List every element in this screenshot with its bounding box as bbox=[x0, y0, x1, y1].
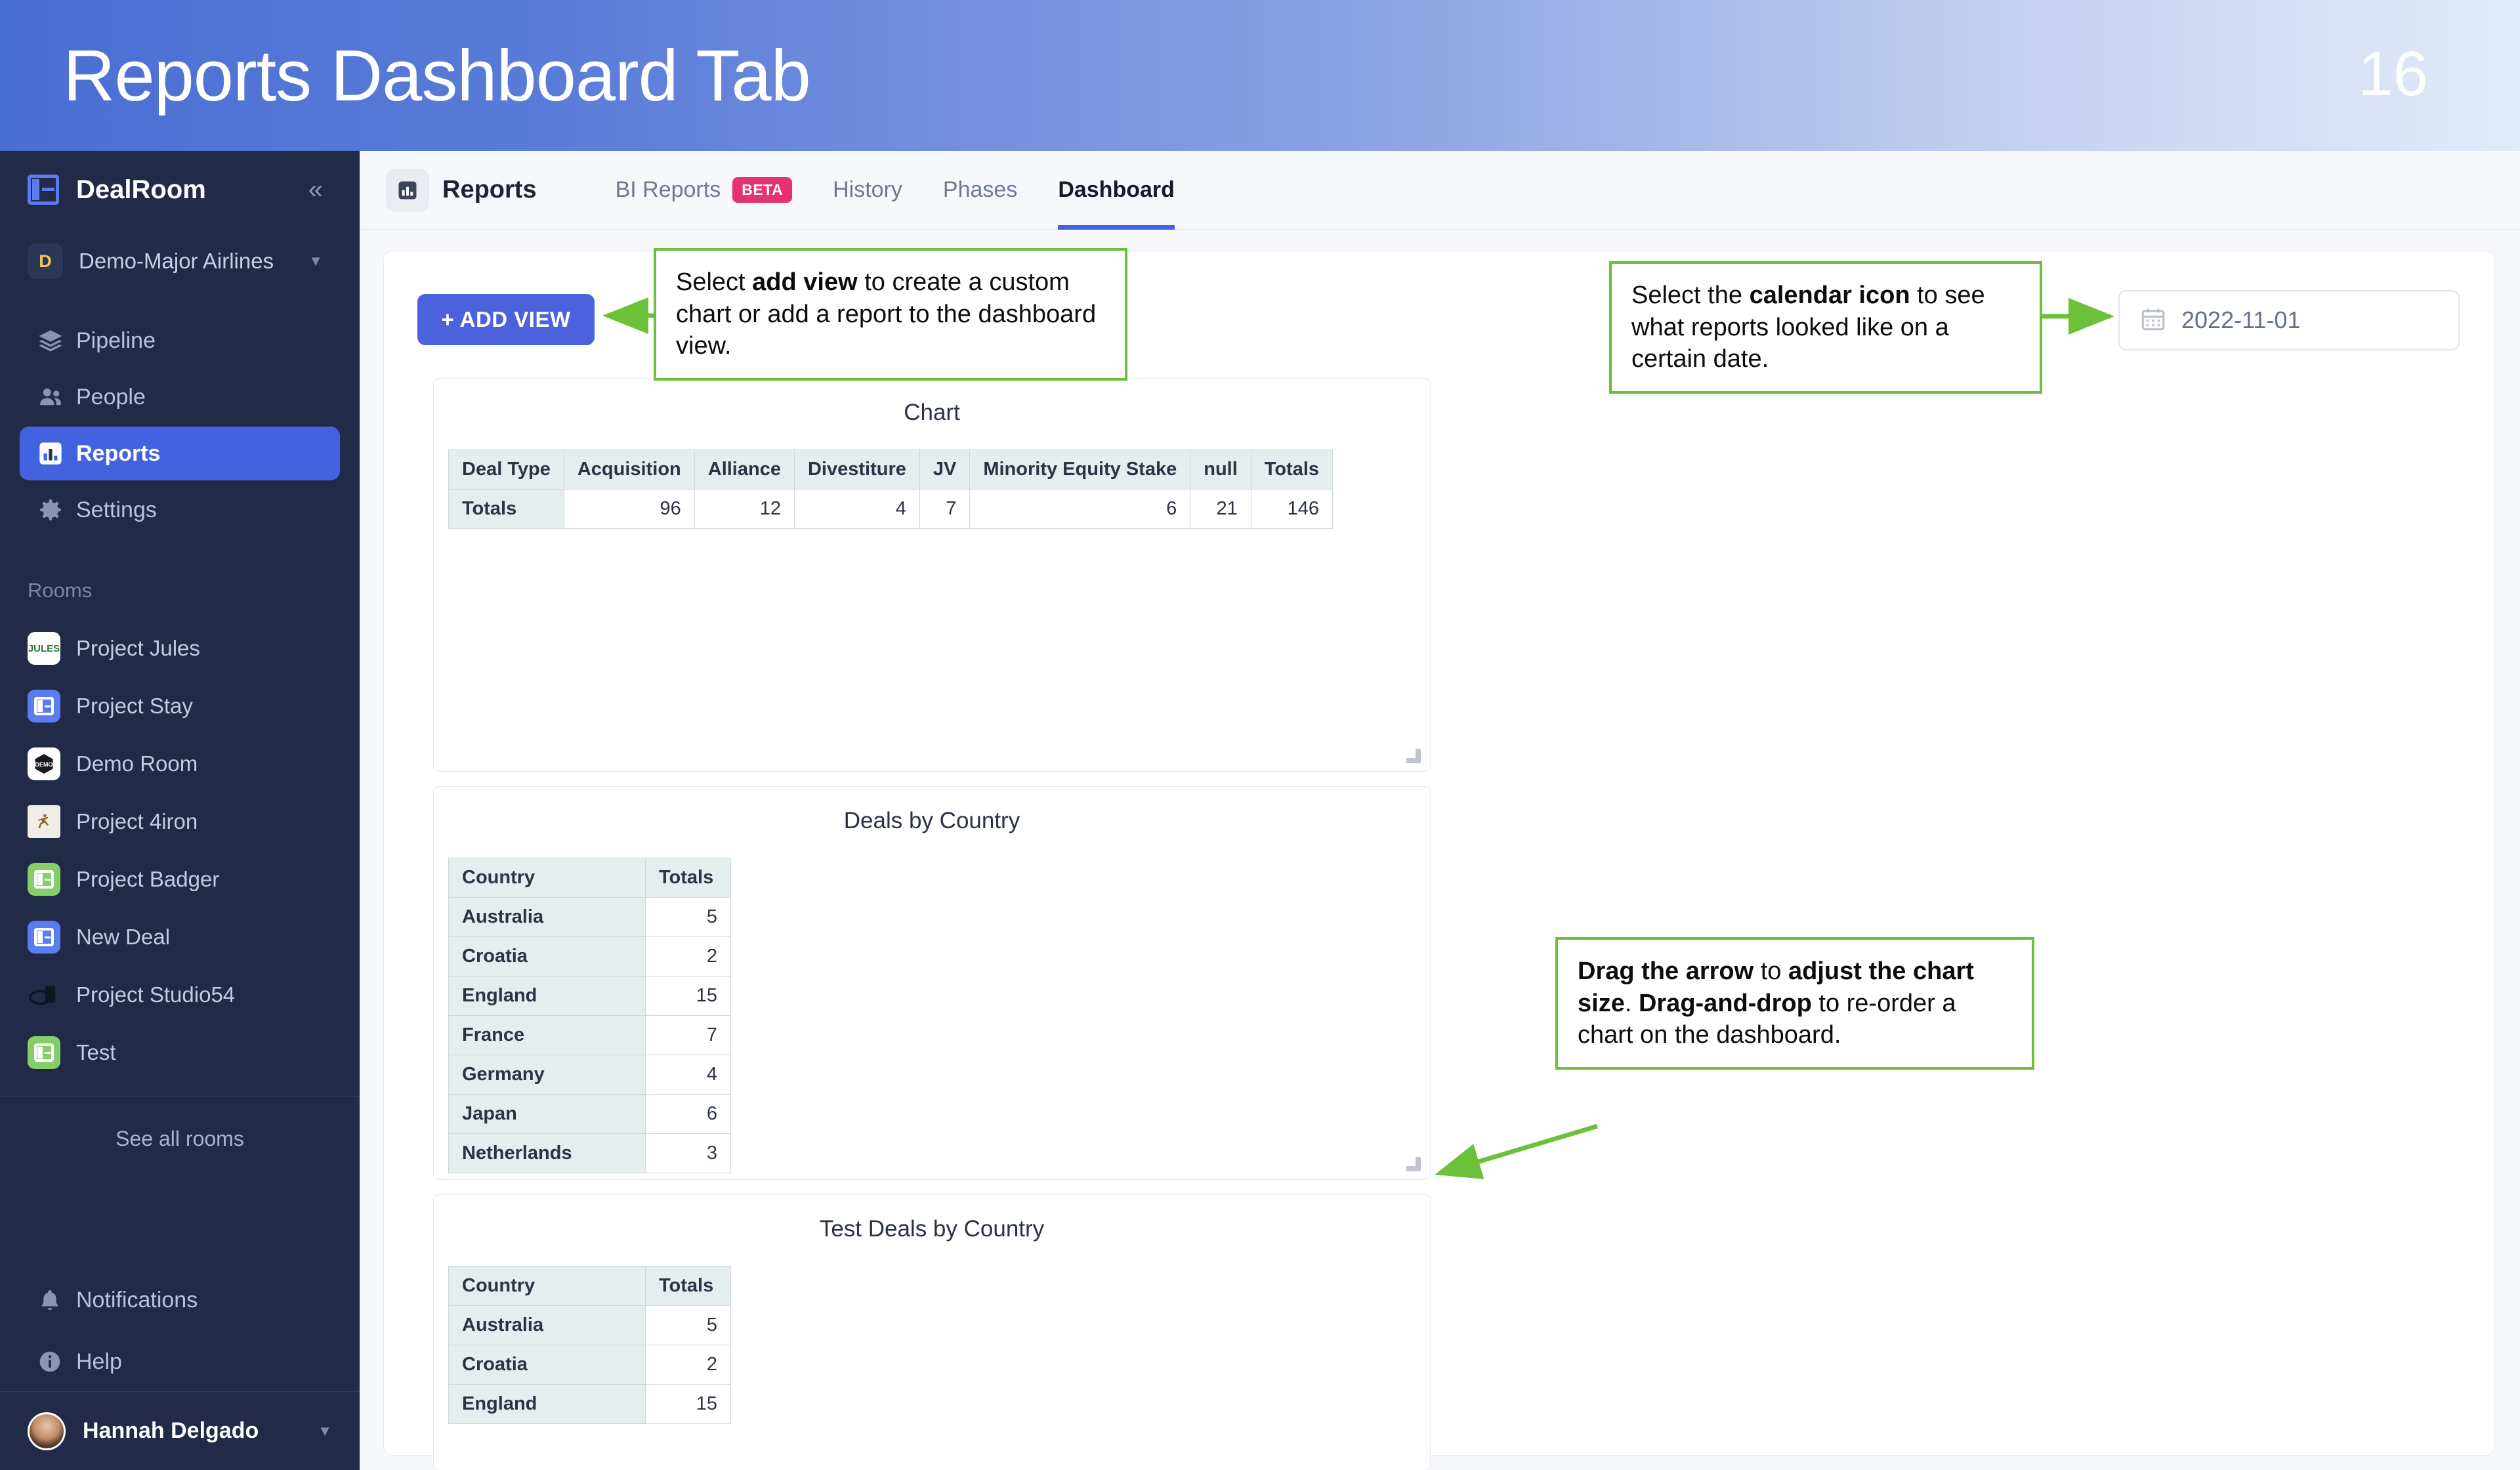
tab-bar: Reports BI Reports BETA History Phases D… bbox=[360, 151, 2520, 230]
room-item-project-stay[interactable]: Project Stay bbox=[0, 677, 360, 735]
table-header-row: Country Totals bbox=[449, 858, 731, 898]
table-row: Australia5 bbox=[449, 898, 731, 937]
cell: Australia bbox=[449, 898, 646, 937]
cell: 4 bbox=[646, 1055, 731, 1095]
cell: Australia bbox=[449, 1306, 646, 1345]
svg-text:DEMO: DEMO bbox=[35, 761, 53, 768]
room-label: Test bbox=[76, 1040, 116, 1065]
rooms-section-title: Rooms bbox=[0, 579, 360, 602]
table-header-row: Deal Type Acquisition Alliance Divestitu… bbox=[449, 450, 1333, 490]
room-item-project-badger[interactable]: Project Badger bbox=[0, 850, 360, 908]
room-item-project-4iron[interactable]: Project 4iron bbox=[0, 793, 360, 850]
tab-history[interactable]: History bbox=[833, 151, 902, 230]
bell-icon bbox=[37, 1287, 68, 1313]
room-label: Project 4iron bbox=[76, 809, 198, 834]
cell: Japan bbox=[449, 1095, 646, 1134]
table-row: Totals 96 12 4 7 6 21 146 bbox=[449, 490, 1333, 529]
sidebar-item-reports[interactable]: Reports bbox=[20, 427, 340, 480]
sidebar: DealRoom « D Demo-Major Airlines ▼ Pipel… bbox=[0, 151, 360, 1470]
report-date-picker[interactable]: 2022-11-01 bbox=[2118, 290, 2460, 350]
cell: England bbox=[449, 976, 646, 1016]
cell: 2 bbox=[646, 937, 731, 976]
chart-card-test-deals-by-country[interactable]: Test Deals by Country Country Totals Aus… bbox=[433, 1194, 1431, 1470]
cell: 5 bbox=[646, 1306, 731, 1345]
room-label: Project Badger bbox=[76, 867, 219, 892]
room-label: New Deal bbox=[76, 925, 170, 950]
page-banner: Reports Dashboard Tab 16 bbox=[0, 0, 2520, 151]
col-header: Totals bbox=[1251, 450, 1332, 490]
brand-name: DealRoom bbox=[76, 175, 308, 205]
sidebar-item-label: Reports bbox=[76, 441, 160, 467]
tab-phases[interactable]: Phases bbox=[943, 151, 1017, 230]
cell: Netherlands bbox=[449, 1134, 646, 1173]
table-row: England15 bbox=[449, 976, 731, 1016]
sidebar-item-help[interactable]: Help bbox=[20, 1335, 340, 1389]
room-label: Project Stay bbox=[76, 694, 193, 719]
chevron-down-icon: ▼ bbox=[318, 1423, 332, 1440]
sidebar-item-label: Help bbox=[76, 1349, 122, 1375]
room-item-project-studio54[interactable]: Project Studio54 bbox=[0, 966, 360, 1024]
sidebar-item-people[interactable]: People bbox=[20, 370, 340, 424]
room-avatar-icon: JULES bbox=[28, 632, 60, 665]
callout-text: Select the calendar icon to see what rep… bbox=[1631, 282, 1985, 373]
chevron-double-left-icon[interactable]: « bbox=[308, 177, 323, 203]
see-all-rooms-link[interactable]: See all rooms bbox=[0, 1111, 360, 1168]
table-row: Croatia2 bbox=[449, 1345, 731, 1385]
callout-resize: Drag the arrow to adjust the chart size.… bbox=[1555, 937, 2034, 1070]
table-header-row: Country Totals bbox=[449, 1267, 731, 1306]
sidebar-divider bbox=[0, 1096, 360, 1097]
date-value: 2022-11-01 bbox=[2181, 306, 2300, 334]
calendar-icon[interactable] bbox=[2139, 305, 2167, 336]
brand-row: DealRoom « bbox=[0, 151, 360, 228]
cell: 3 bbox=[646, 1134, 731, 1173]
sidebar-item-label: Settings bbox=[76, 497, 157, 523]
user-name: Hannah Delgado bbox=[83, 1418, 318, 1444]
primary-nav: Pipeline People Reports Settings bbox=[0, 311, 360, 539]
table-row: Australia5 bbox=[449, 1306, 731, 1345]
section-title: Reports bbox=[442, 176, 537, 204]
beta-badge: BETA bbox=[732, 177, 792, 203]
sidebar-item-label: Notifications bbox=[76, 1288, 198, 1313]
user-menu[interactable]: Hannah Delgado ▼ bbox=[0, 1391, 360, 1470]
cell: 7 bbox=[919, 490, 969, 529]
cell: 21 bbox=[1190, 490, 1251, 529]
chart-resize-handle[interactable] bbox=[1406, 749, 1421, 763]
page-title: Reports Dashboard Tab bbox=[63, 34, 810, 117]
callout-text: Drag the arrow to adjust the chart size.… bbox=[1578, 957, 1974, 1049]
col-header: Acquisition bbox=[564, 450, 694, 490]
table-row: England15 bbox=[449, 1385, 731, 1424]
deals-by-country-table: Country Totals Australia5 Croatia2 Engla… bbox=[448, 858, 731, 1173]
chart-card-chart[interactable]: Chart Deal Type Acquisition Alliance Div… bbox=[433, 378, 1431, 772]
workspace-badge: D bbox=[28, 243, 63, 279]
bar-chart-icon bbox=[37, 440, 68, 467]
chart-resize-handle[interactable] bbox=[1406, 1157, 1421, 1171]
room-avatar-icon: DEMO bbox=[28, 747, 60, 780]
layers-icon bbox=[37, 327, 68, 354]
room-avatar-icon bbox=[28, 978, 60, 1011]
col-header: Divestiture bbox=[794, 450, 919, 490]
cell: 96 bbox=[564, 490, 694, 529]
info-icon bbox=[37, 1349, 68, 1375]
tab-label: Dashboard bbox=[1058, 177, 1175, 203]
room-avatar-icon bbox=[28, 1036, 60, 1069]
room-item-test[interactable]: Test bbox=[0, 1024, 360, 1081]
tab-label: Phases bbox=[943, 177, 1017, 203]
sidebar-item-label: People bbox=[76, 385, 146, 410]
cell: 15 bbox=[646, 976, 731, 1016]
tab-dashboard[interactable]: Dashboard bbox=[1058, 151, 1175, 230]
table-row: France7 bbox=[449, 1016, 731, 1055]
col-header: Deal Type bbox=[449, 450, 564, 490]
room-avatar-icon bbox=[28, 805, 60, 838]
chart-card-title: Test Deals by Country bbox=[434, 1195, 1430, 1242]
chevron-down-icon: ▼ bbox=[308, 253, 323, 270]
col-header: JV bbox=[919, 450, 969, 490]
cell: 15 bbox=[646, 1385, 731, 1424]
callout-add-view: Select add view to create a custom chart… bbox=[654, 248, 1127, 381]
room-item-demo-room[interactable]: DEMO Demo Room bbox=[0, 735, 360, 793]
col-header: Country bbox=[449, 858, 646, 898]
room-avatar-icon bbox=[28, 690, 60, 723]
col-header: null bbox=[1190, 450, 1251, 490]
room-item-new-deal[interactable]: New Deal bbox=[0, 908, 360, 966]
sidebar-bottom: Notifications Help Hannah Delgado ▼ bbox=[0, 1270, 360, 1470]
chart-card-deals-by-country[interactable]: Deals by Country Country Totals Australi… bbox=[433, 786, 1431, 1180]
room-label: Project Studio54 bbox=[76, 982, 235, 1007]
chart-card-title: Chart bbox=[434, 379, 1430, 426]
table-row: Japan6 bbox=[449, 1095, 731, 1134]
cell: Croatia bbox=[449, 937, 646, 976]
workspace-selector[interactable]: D Demo-Major Airlines ▼ bbox=[0, 228, 360, 294]
workspace-name: Demo-Major Airlines bbox=[79, 249, 308, 274]
dealroom-logo-icon bbox=[28, 175, 59, 205]
chart-table: Deal Type Acquisition Alliance Divestitu… bbox=[448, 450, 1333, 529]
cell: 4 bbox=[794, 490, 919, 529]
room-avatar-icon bbox=[28, 863, 60, 896]
chart-card-title: Deals by Country bbox=[434, 787, 1430, 834]
table-row: Germany4 bbox=[449, 1055, 731, 1095]
col-header: Totals bbox=[646, 1267, 731, 1306]
slide-number: 16 bbox=[2358, 38, 2428, 110]
cell: 12 bbox=[694, 490, 794, 529]
room-item-project-jules[interactable]: JULES Project Jules bbox=[0, 619, 360, 677]
cell: 2 bbox=[646, 1345, 731, 1385]
table-row: Netherlands3 bbox=[449, 1134, 731, 1173]
cell: 146 bbox=[1251, 490, 1332, 529]
sidebar-item-label: Pipeline bbox=[76, 328, 156, 354]
callout-calendar: Select the calendar icon to see what rep… bbox=[1609, 261, 2042, 394]
test-deals-by-country-table: Country Totals Australia5 Croatia2 Engla… bbox=[448, 1266, 731, 1424]
sidebar-item-settings[interactable]: Settings bbox=[20, 483, 340, 537]
sidebar-item-pipeline[interactable]: Pipeline bbox=[20, 314, 340, 367]
add-view-button[interactable]: + ADD VIEW bbox=[417, 294, 595, 345]
cell: Croatia bbox=[449, 1345, 646, 1385]
cell: 7 bbox=[646, 1016, 731, 1055]
cell: 5 bbox=[646, 898, 731, 937]
callout-text: Select add view to create a custom chart… bbox=[676, 268, 1096, 360]
people-icon bbox=[37, 383, 68, 411]
cell: 6 bbox=[970, 490, 1190, 529]
rooms-list: JULES Project Jules Project Stay DEMO De… bbox=[0, 619, 360, 1081]
col-header: Minority Equity Stake bbox=[970, 450, 1190, 490]
col-header: Country bbox=[449, 1267, 646, 1306]
room-label: Demo Room bbox=[76, 751, 198, 776]
cell: Germany bbox=[449, 1055, 646, 1095]
reports-header-icon bbox=[386, 169, 429, 212]
cell: 6 bbox=[646, 1095, 731, 1134]
tab-bi-reports[interactable]: BI Reports BETA bbox=[616, 151, 793, 230]
room-label: Project Jules bbox=[76, 636, 200, 661]
avatar bbox=[28, 1412, 66, 1450]
table-row: Croatia2 bbox=[449, 937, 731, 976]
col-header: Totals bbox=[646, 858, 731, 898]
cell: France bbox=[449, 1016, 646, 1055]
sidebar-item-notifications[interactable]: Notifications bbox=[20, 1273, 340, 1327]
room-avatar-icon bbox=[28, 921, 60, 954]
gear-icon bbox=[37, 496, 68, 524]
cell: England bbox=[449, 1385, 646, 1424]
tab-label: History bbox=[833, 177, 902, 203]
col-header: Alliance bbox=[694, 450, 794, 490]
cell: Totals bbox=[449, 490, 564, 529]
tab-label: BI Reports bbox=[616, 177, 721, 203]
